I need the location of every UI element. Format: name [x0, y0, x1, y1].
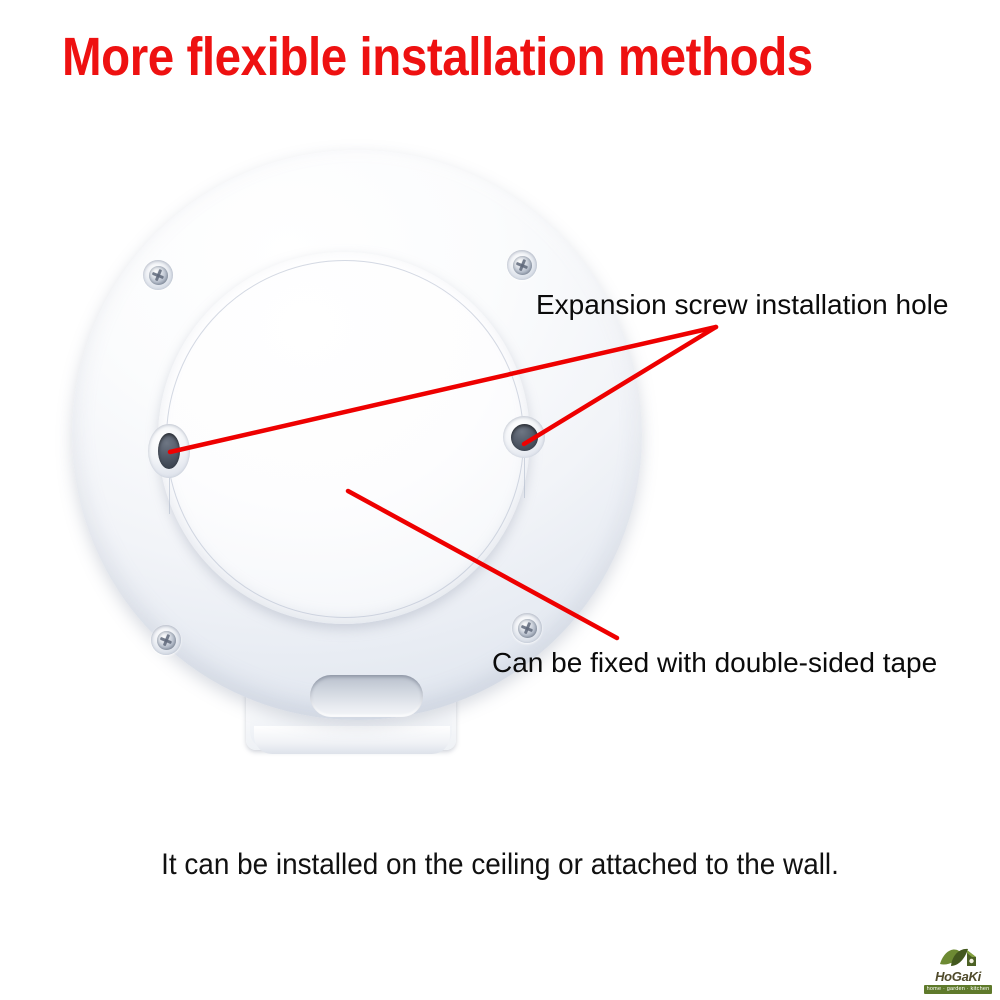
phillips-screw-icon [518, 619, 537, 638]
expansion-screw-hole-right [503, 416, 545, 458]
screw-top-right [507, 250, 537, 280]
brand-tagline: home · garden · kitchen [924, 985, 993, 994]
seam-line-right [524, 458, 525, 498]
leaf-house-icon [938, 943, 978, 969]
seam-line-left [169, 478, 170, 514]
mount-tab-lip [254, 726, 450, 754]
inner-disc-ring [166, 260, 524, 618]
phillips-screw-icon [513, 256, 532, 275]
phillips-screw-icon [157, 631, 176, 650]
brand-name: HoGaKi [935, 970, 981, 984]
callout-expansion-screw-installation-hole: Expansion screw installation hole [536, 288, 948, 322]
cable-slot [310, 675, 423, 717]
callout-double-sided-tape: Can be fixed with double-sided tape [492, 646, 937, 680]
bottom-caption: It can be installed on the ceiling or at… [35, 845, 965, 885]
screw-bottom-right [512, 613, 542, 643]
hole-core [158, 433, 180, 469]
screw-bottom-left [151, 625, 181, 655]
screw-top-left [143, 260, 173, 290]
phillips-screw-icon [149, 266, 168, 285]
brand-logo: HoGaKi home · garden · kitchen [922, 932, 994, 994]
product-photo [60, 140, 680, 780]
expansion-screw-hole-left [148, 424, 190, 478]
page-title: More flexible installation methods [62, 28, 813, 86]
hole-core [511, 424, 538, 451]
